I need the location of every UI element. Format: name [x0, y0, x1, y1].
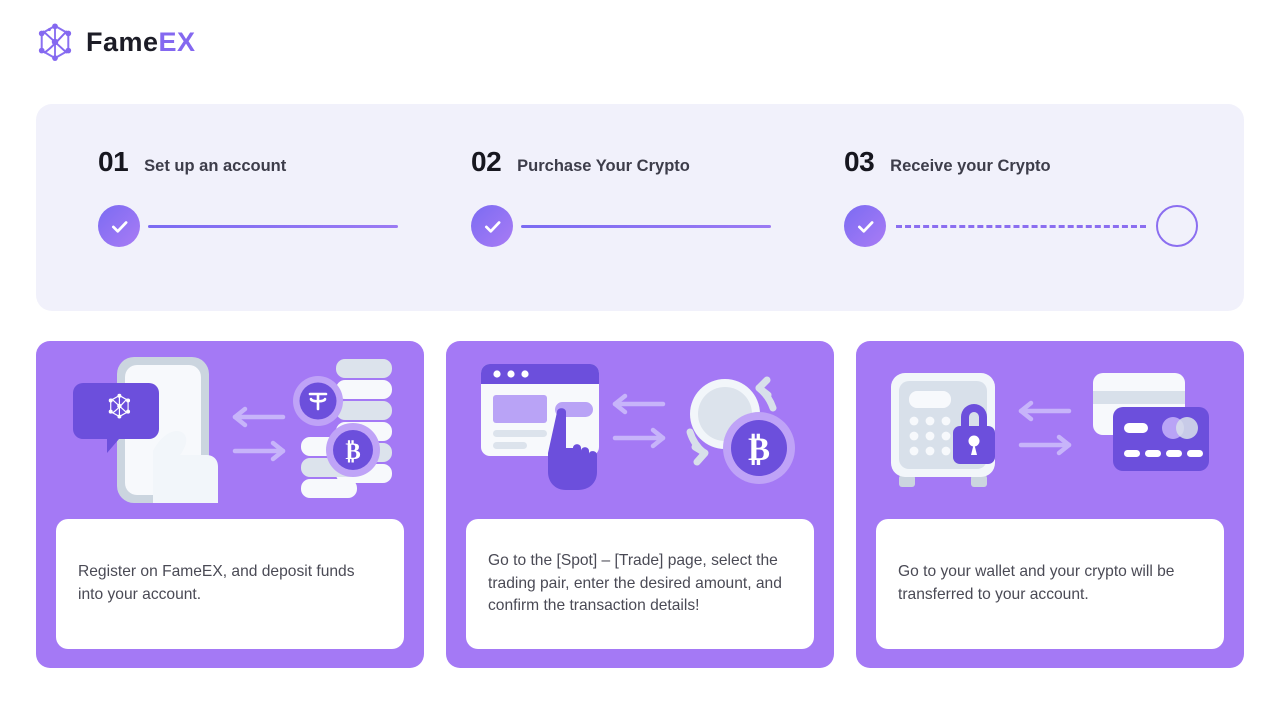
step-connector-line — [521, 225, 771, 228]
info-card-2[interactable]: ₿ Go to the [Spot] – [Trade] page, selec… — [446, 341, 834, 668]
brand-name-primary: Fame — [86, 27, 159, 57]
fameex-network-logo-icon — [36, 22, 74, 62]
step-complete-check-icon — [98, 205, 140, 247]
info-card-3[interactable]: Go to your wallet and your crypto will b… — [856, 341, 1244, 668]
step-item-2[interactable]: 02 Purchase Your Crypto — [471, 148, 844, 247]
step-connector-line — [148, 225, 398, 228]
brand-name-accent: EX — [159, 27, 196, 57]
step-progress-track — [844, 205, 1217, 247]
step-label: Purchase Your Crypto — [517, 158, 690, 175]
step-item-3[interactable]: 03 Receive your Crypto — [844, 148, 1217, 247]
cards-row: ₿ Register on FameEX, and deposit funds … — [36, 341, 1244, 668]
step-connector-dashed-line — [896, 225, 1146, 228]
steps-panel: 01 Set up an account 02 Purchase Your Cr… — [36, 104, 1244, 311]
card-text-box: Go to the [Spot] – [Trade] page, select … — [466, 519, 814, 649]
safe-lock-cards-illustration — [856, 341, 1244, 519]
svg-text:₿: ₿ — [748, 432, 770, 468]
step-complete-check-icon — [844, 205, 886, 247]
svg-text:₿: ₿ — [345, 439, 360, 464]
info-card-1[interactable]: ₿ Register on FameEX, and deposit funds … — [36, 341, 424, 668]
transfer-arrows-icon — [1021, 403, 1069, 453]
brand-name: FameEX — [86, 29, 196, 56]
card-description: Go to the [Spot] – [Trade] page, select … — [488, 550, 792, 618]
steps-row: 01 Set up an account 02 Purchase Your Cr… — [98, 148, 1218, 247]
step-label: Receive your Crypto — [890, 158, 1050, 175]
brand-header: FameEX — [36, 22, 196, 62]
card-text-box: Register on FameEX, and deposit funds in… — [56, 519, 404, 649]
step-progress-track — [98, 205, 471, 247]
browser-window-icon — [481, 364, 599, 456]
card-description: Go to your wallet and your crypto will b… — [898, 561, 1202, 606]
card-description: Register on FameEX, and deposit funds in… — [78, 561, 382, 606]
step-header: 03 Receive your Crypto — [844, 148, 1217, 182]
step-header: 01 Set up an account — [98, 148, 471, 182]
bitcoin-coin-icon: ₿ — [326, 423, 380, 477]
step-number: 02 — [471, 148, 501, 176]
step-label: Set up an account — [144, 158, 286, 175]
phone-hand-chat-coins-illustration: ₿ — [36, 341, 424, 519]
step-complete-check-icon — [471, 205, 513, 247]
usdt-coin-icon — [293, 376, 343, 426]
step-progress-track — [471, 205, 844, 247]
browser-click-swap-illustration: ₿ — [446, 341, 834, 519]
step-header: 02 Purchase Your Crypto — [471, 148, 844, 182]
step-number: 01 — [98, 148, 128, 176]
purple-credit-card-icon — [1113, 407, 1209, 471]
card-text-box: Go to your wallet and your crypto will b… — [876, 519, 1224, 649]
transfer-arrows-icon — [235, 409, 283, 459]
step-pending-circle-icon — [1156, 205, 1198, 247]
step-item-1[interactable]: 01 Set up an account — [98, 148, 471, 247]
transfer-arrows-icon — [615, 396, 663, 446]
step-number: 03 — [844, 148, 874, 176]
bitcoin-coin-icon: ₿ — [723, 412, 795, 484]
